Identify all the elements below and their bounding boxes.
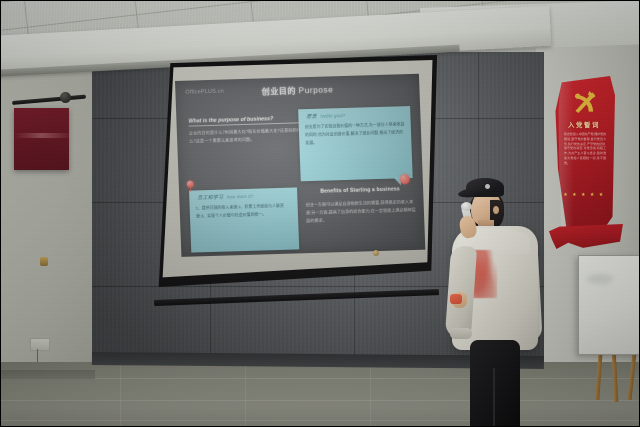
presenter-person [438,168,556,427]
rod-end-knob [60,92,71,103]
classroom-photo-scene: OfficePLUS.cn 创业目的 Purpose What is the p… [0,0,640,427]
slide-question-heading: What is the purpose of business? [188,115,298,127]
whiteboard [578,255,640,355]
slide-box-bl-heading: 员工和学习 how does it? [195,193,253,202]
slide-box-tr-heading-cn: 愿景 [306,114,317,120]
wall-power-outlet [30,338,50,351]
projector-screen: OfficePLUS.cn 创业目的 Purpose What is the p… [150,55,440,287]
baseboard-left [0,370,95,379]
screen-weight-tab [40,257,48,266]
slide-title-cn: 创业目的 [261,86,296,96]
screen-hook [373,250,379,256]
slide-box-bl-body: 1、提供可观的收入来源;2、积累工作经验与人脉资源;3、实现个人价值与社会价值的… [196,202,294,221]
person-ear [493,206,499,214]
party-oath-banner: 入党誓词 我志愿加入中国共产党,拥护党的纲领,遵守党的章程,履行党员义务,执行党… [553,76,615,236]
slide-title: 创业目的 Purpose [175,81,419,100]
red-wall-panel [14,108,69,170]
slide-box-tr-heading-en: Noble goal? [320,113,345,119]
slide-benefits-body: 创业一方面可以满足自身物质生活的需要,获得稳定的收入来源;另一方面,提高了自身的… [305,198,416,225]
slide-box-tr-heading: 愿景 Noble goal? [304,112,345,120]
slide-benefits-heading: Benefits of Starting a business [307,186,413,195]
projected-slide: OfficePLUS.cn 创业目的 Purpose What is the p… [175,74,425,257]
slide-marker-stem [190,185,191,192]
slide-title-en: Purpose [298,85,333,95]
held-object [450,294,462,304]
banner-stars: ★ ★ ★ ★ ★ [553,192,615,198]
trouser-seam [493,368,495,427]
slide-box-bottom-left: 员工和学习 how does it? 1、提供可观的收入来源;2、积累工作经验与… [189,187,299,252]
banner-title: 入党誓词 [553,120,615,129]
person-trousers [470,340,520,427]
banner-oath-text: 我志愿加入中国共产党,拥护党的纲领,遵守党的章程,履行党员义务,执行党的决定,严… [564,132,606,165]
slide-box-bl-heading-cn: 员工和学习 [197,195,223,202]
slide-marker-dot-right [400,174,410,184]
slide-box-top-right: 愿景 Noble goal? 创业是为了实现自我价值的一种方式,为一部分人带来收… [298,106,413,181]
microphone-head-icon [461,202,472,211]
slide-question-body: 企业的目的是什么?利润最大化?股东价值最大化?还是别的什么?这是一个需要认真思考… [189,126,302,144]
slide-box-tr-body: 创业是为了实现自我价值的一种方式,为一部分人带来收益的同时,也为社会创造价值,解… [305,120,407,147]
slide-box-bl-heading-en: how does it? [227,194,254,200]
cap-logo-icon [485,184,490,189]
hammer-and-sickle-icon [570,88,600,116]
person-left-cuff [450,328,472,339]
